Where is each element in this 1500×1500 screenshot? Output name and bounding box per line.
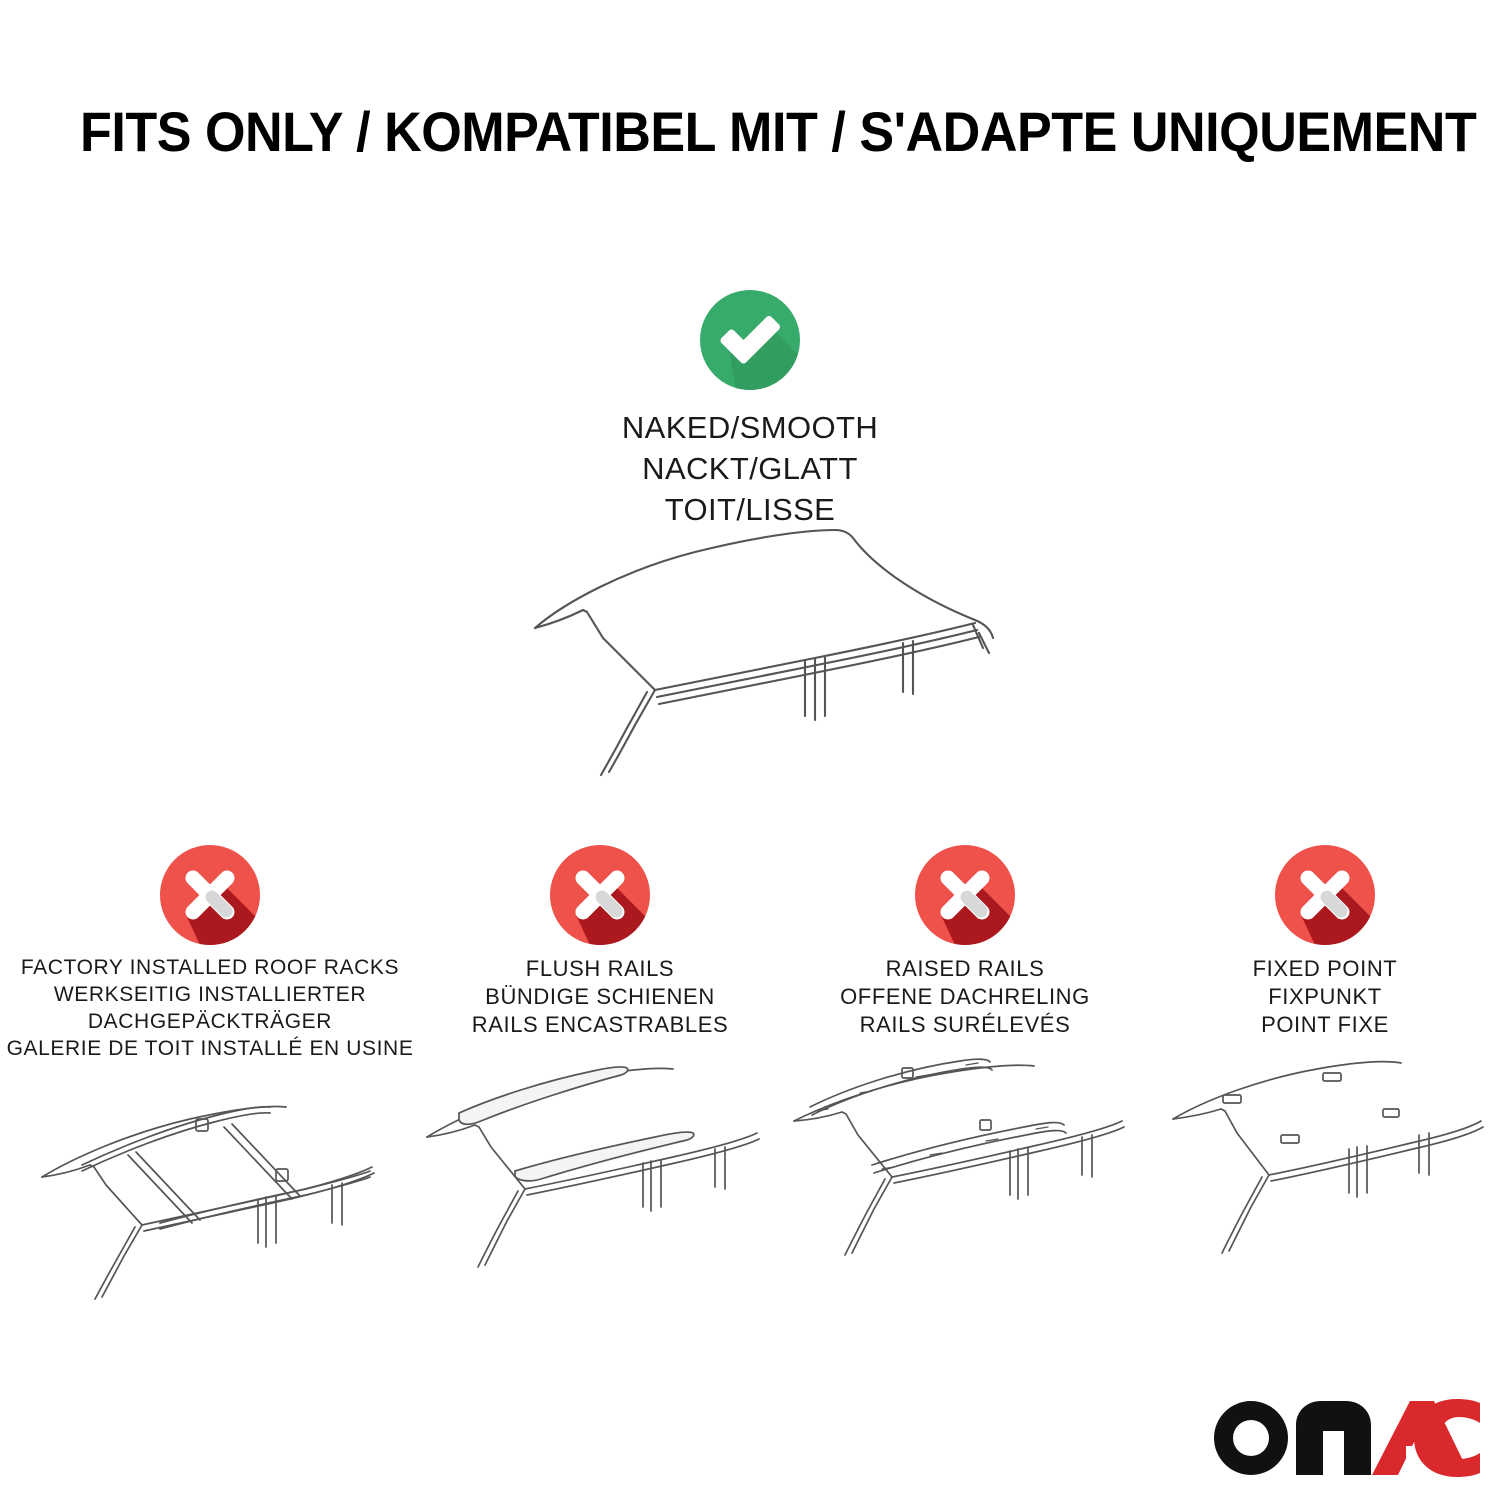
x-circle-icon (1275, 845, 1375, 945)
compatible-label-de: NACKT/GLATT (622, 449, 878, 490)
incompatible-section-flush-rails: FLUSH RAILS BÜNDIGE SCHIENEN RAILS ENCAS… (420, 845, 780, 1282)
x-circle-icon (550, 845, 650, 945)
incompatible-label-en: FACTORY INSTALLED ROOF RACKS (7, 955, 414, 982)
flush-rails-illustration (415, 1057, 785, 1282)
incompatible-label-fr: RAILS SURÉLEVÉS (840, 1011, 1090, 1039)
incompatible-label-en: FIXED POINT (1253, 955, 1398, 983)
smooth-naked-roof-illustration (505, 520, 1025, 800)
fixed-point-illustration (1165, 1057, 1485, 1282)
incompatible-sections: FACTORY INSTALLED ROOF RACKS WERKSEITIG … (0, 845, 1500, 1306)
incompatible-section-raised-rails: RAISED RAILS OFFENE DACHRELING RAILS SUR… (780, 845, 1150, 1282)
incompatible-label-group: FIXED POINT FIXPUNKT POINT FIXE (1253, 955, 1398, 1039)
incompatible-label-group: RAISED RAILS OFFENE DACHRELING RAILS SUR… (840, 955, 1090, 1039)
omac-logo-letter-m (1296, 1401, 1371, 1475)
x-circle-icon (915, 845, 1015, 945)
compatible-section: NAKED/SMOOTH NACKT/GLATT TOIT/LISSE (0, 290, 1500, 531)
x-circle-icon (160, 845, 260, 945)
compatible-label-en: NAKED/SMOOTH (622, 408, 878, 449)
raised-rails-illustration (780, 1057, 1150, 1282)
incompatible-label-de: FIXPUNKT (1253, 983, 1398, 1011)
incompatible-label-fr: RAILS ENCASTRABLES (472, 1011, 729, 1039)
incompatible-label-de: OFFENE DACHRELING (840, 983, 1090, 1011)
incompatible-label-en: RAISED RAILS (840, 955, 1090, 983)
incompatible-label-de-2: DACHGEPÄCKTRÄGER (7, 1009, 414, 1036)
omac-logo-letter-o (1214, 1401, 1288, 1475)
incompatible-label-de-1: WERKSEITIG INSTALLIERTER (7, 982, 414, 1009)
incompatible-section-factory-roof-racks: FACTORY INSTALLED ROOF RACKS WERKSEITIG … (0, 845, 420, 1306)
incompatible-label-de: BÜNDIGE SCHIENEN (472, 983, 729, 1011)
compatible-label-group: NAKED/SMOOTH NACKT/GLATT TOIT/LISSE (622, 408, 878, 531)
incompatible-label-fr: GALERIE DE TOIT INSTALLÉ EN USINE (7, 1036, 414, 1063)
check-circle-icon (700, 290, 800, 390)
omac-logo: OMAC (1212, 1391, 1482, 1486)
incompatible-label-fr: POINT FIXE (1253, 1011, 1398, 1039)
incompatible-label-en: FLUSH RAILS (472, 955, 729, 983)
incompatible-section-fixed-point: FIXED POINT FIXPUNKT POINT FIXE (1150, 845, 1500, 1282)
incompatible-label-group: FLUSH RAILS BÜNDIGE SCHIENEN RAILS ENCAS… (472, 955, 729, 1039)
incompatible-label-group: FACTORY INSTALLED ROOF RACKS WERKSEITIG … (7, 955, 414, 1063)
factory-roof-rack-illustration (20, 1081, 400, 1306)
page-title: FITS ONLY / KOMPATIBEL MIT / S'ADAPTE UN… (80, 104, 1336, 160)
